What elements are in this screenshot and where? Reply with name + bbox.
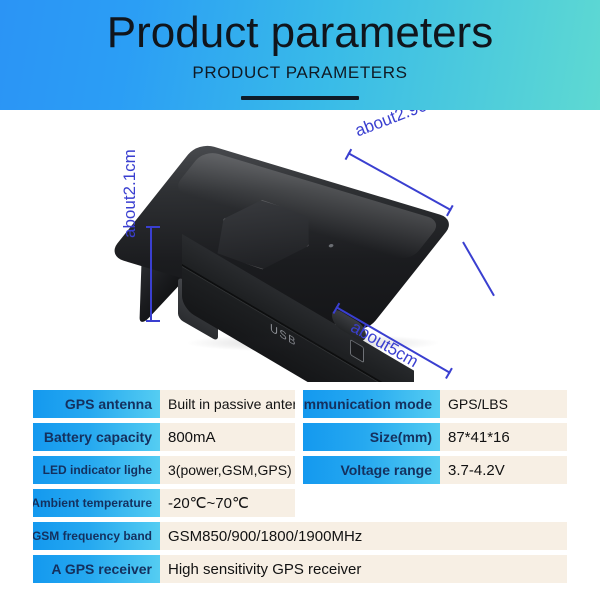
column-gap	[295, 390, 303, 418]
column-gap	[295, 423, 303, 451]
table-row: Battery capacity 800mA Size(mm) 87*41*16	[33, 423, 567, 451]
spec-label: GSM frequency band	[33, 522, 160, 550]
page-header-banner: Product parameters PRODUCT PARAMETERS	[0, 0, 600, 110]
product-device-image: USB	[168, 138, 460, 353]
spec-label: A GPS receiver	[33, 555, 160, 583]
spec-label: Ambient temperature	[33, 489, 160, 517]
table-row: Ambient temperature -20℃~70℃	[33, 489, 567, 517]
spec-label: Size(mm)	[303, 423, 440, 451]
table-row: LED indicator lighe 3(power,GSM,GPS) Vol…	[33, 456, 567, 484]
spec-label: Battery capacity	[33, 423, 160, 451]
table-row: A GPS receiver High sensitivity GPS rece…	[33, 555, 567, 583]
spec-value: GPS/LBS	[440, 390, 567, 418]
table-row: GPS antenna Built in passive antenna Com…	[33, 390, 567, 418]
spec-value: High sensitivity GPS receiver	[160, 555, 567, 583]
page-subtitle: PRODUCT PARAMETERS	[0, 62, 600, 84]
dimension-arrow-side-edge	[462, 242, 495, 297]
spec-label: GPS antenna	[33, 390, 160, 418]
spec-value: 3(power,GSM,GPS)	[160, 456, 295, 484]
spec-value: 3.7-4.2V	[440, 456, 567, 484]
device-led-dot	[328, 244, 334, 248]
spec-label: Voltage range	[303, 456, 440, 484]
dimension-label-height: about2.1cm	[120, 149, 140, 238]
spec-label: LED indicator lighe	[33, 456, 160, 484]
spec-value: GSM850/900/1800/1900MHz	[160, 522, 567, 550]
title-underline-rule	[241, 96, 359, 100]
spec-value: -20℃~70℃	[160, 489, 295, 517]
specification-table: GPS antenna Built in passive antenna Com…	[33, 390, 567, 588]
spec-value: Built in passive antenna	[160, 390, 295, 418]
column-gap	[295, 456, 303, 484]
product-photo-area: USB about2.9cm about2.1cm about5cm	[0, 110, 600, 382]
spec-label: Communication mode	[303, 390, 440, 418]
spec-value: 87*41*16	[440, 423, 567, 451]
dimension-arrow-height	[150, 226, 152, 322]
page-title: Product parameters	[0, 6, 600, 60]
spec-value: 800mA	[160, 423, 295, 451]
table-row: GSM frequency band GSM850/900/1800/1900M…	[33, 522, 567, 550]
dimension-label-depth: about2.9cm	[352, 110, 442, 141]
